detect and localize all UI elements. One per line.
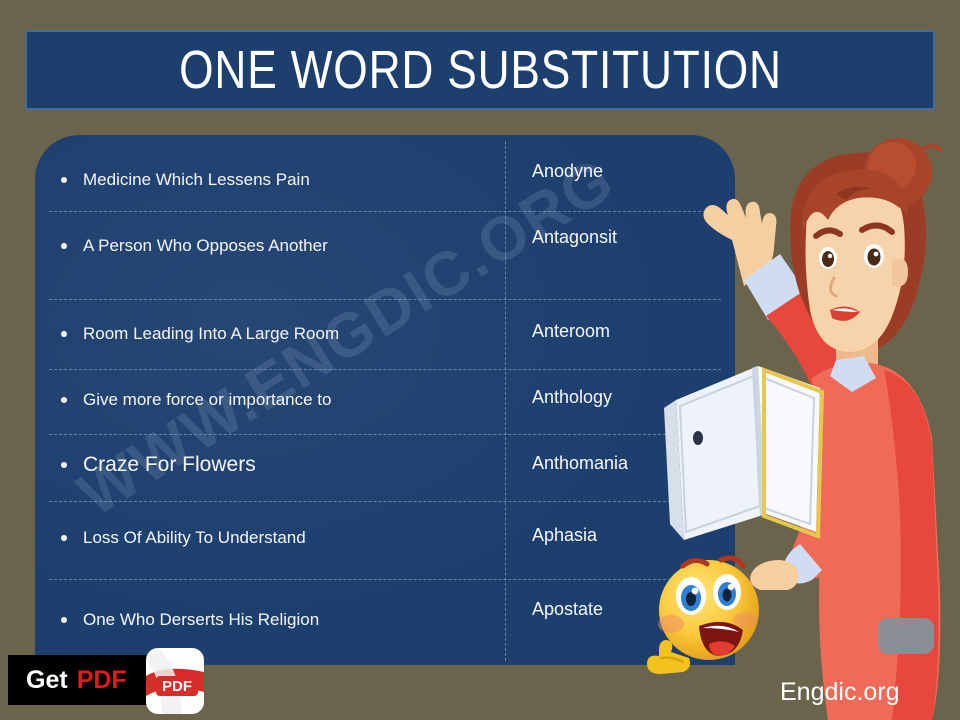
get-pdf-get-label: Get <box>26 666 68 695</box>
bullet-icon <box>61 397 67 403</box>
table-row[interactable]: Loss Of Ability To Understand Aphasia <box>35 501 735 579</box>
row-phrase-text: Craze For Flowers <box>83 452 256 477</box>
row-phrase-text: Give more force or importance to <box>83 390 331 410</box>
row-divider <box>49 501 721 502</box>
poster-canvas: ONE WORD SUBSTITUTION WWW.ENGDIC.ORG Med… <box>0 0 960 720</box>
row-phrase: Room Leading Into A Large Room <box>83 321 513 347</box>
word-table-card: WWW.ENGDIC.ORG Medicine Which Lessens Pa… <box>35 135 735 665</box>
row-divider <box>49 434 721 435</box>
row-divider <box>49 369 721 370</box>
table-row[interactable]: A Person Who Opposes Another Antagonsit <box>35 211 735 299</box>
row-phrase-text: A Person Who Opposes Another <box>83 236 328 256</box>
get-pdf-pdf-label: PDF <box>77 666 127 695</box>
row-divider <box>49 211 721 212</box>
bullet-icon <box>61 331 67 337</box>
bullet-icon <box>61 535 67 541</box>
row-divider <box>49 579 721 580</box>
row-phrase-text: Loss Of Ability To Understand <box>83 528 306 548</box>
brand-name: Engdic.org <box>780 678 900 707</box>
row-phrase: Medicine Which Lessens Pain <box>83 167 513 193</box>
word-table: Medicine Which Lessens Pain Anodyne A Pe… <box>35 135 735 665</box>
table-row[interactable]: Medicine Which Lessens Pain Anodyne <box>35 149 735 211</box>
bullet-icon <box>61 462 67 468</box>
page-title: ONE WORD SUBSTITUTION <box>179 39 782 101</box>
table-row[interactable]: Give more force or importance to Antholo… <box>35 369 735 434</box>
row-phrase: A Person Who Opposes Another <box>83 233 513 259</box>
row-phrase: One Who Derserts His Religion <box>83 607 513 633</box>
table-row[interactable]: Craze For Flowers Anthomania <box>35 434 735 501</box>
row-phrase: Loss Of Ability To Understand <box>83 525 513 551</box>
bullet-icon <box>61 243 67 249</box>
smiley-emoji-icon <box>645 552 765 680</box>
table-row[interactable]: Room Leading Into A Large Room Anteroom <box>35 299 735 369</box>
pdf-icon-label: PDF <box>162 678 192 695</box>
row-phrase-text: One Who Derserts His Religion <box>83 610 319 630</box>
title-bar: ONE WORD SUBSTITUTION <box>25 30 935 110</box>
row-phrase-text: Room Leading Into A Large Room <box>83 324 339 344</box>
pdf-file-icon[interactable]: PDF <box>140 646 210 716</box>
row-phrase: Craze For Flowers <box>83 450 513 480</box>
row-phrase-text: Medicine Which Lessens Pain <box>83 170 310 190</box>
bullet-icon <box>61 177 67 183</box>
bullet-icon <box>61 617 67 623</box>
row-phrase: Give more force or importance to <box>83 387 513 413</box>
row-divider <box>49 299 721 300</box>
